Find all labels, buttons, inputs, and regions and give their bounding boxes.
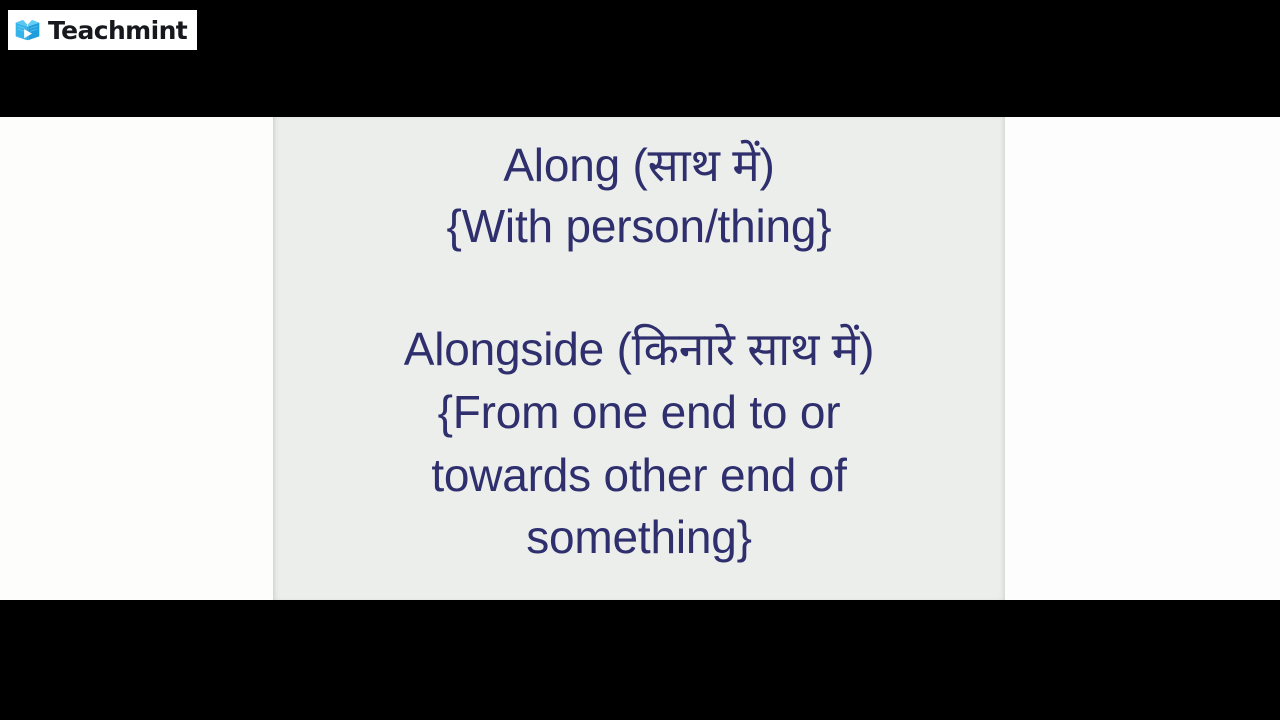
teachmint-wordmark: Teachmint bbox=[48, 18, 187, 43]
page-left-margin bbox=[0, 117, 273, 600]
entry-spacer bbox=[273, 256, 1005, 318]
teachmint-watermark-badge[interactable]: Teachmint bbox=[8, 10, 197, 50]
entry-headword-along: Along (साथ में) bbox=[273, 135, 1005, 196]
vocabulary-entry-along: Along (साथ में) {With person/thing} bbox=[273, 135, 1005, 256]
slide-text-block: Along (साथ में) {With person/thing} Alon… bbox=[273, 135, 1005, 569]
video-player-screen: Along (साथ में) {With person/thing} Alon… bbox=[0, 0, 1280, 720]
letterbox-bottom-band bbox=[0, 600, 1280, 720]
vocabulary-entry-alongside: Alongside (किनारे साथ में) {From one end… bbox=[273, 318, 1005, 568]
page-right-margin bbox=[1005, 117, 1280, 600]
entry-definition-alongside-line-3: something} bbox=[273, 506, 1005, 569]
entry-definition-alongside-line-1: {From one end to or bbox=[273, 381, 1005, 444]
video-frame[interactable]: Along (साथ में) {With person/thing} Alon… bbox=[0, 117, 1280, 600]
entry-headword-alongside: Alongside (किनारे साथ में) bbox=[273, 318, 1005, 381]
entry-definition-alongside-line-2: towards other end of bbox=[273, 444, 1005, 507]
lesson-slide-panel: Along (साथ में) {With person/thing} Alon… bbox=[273, 117, 1005, 600]
teachmint-book-play-logo-icon bbox=[14, 17, 41, 44]
entry-definition-along: {With person/thing} bbox=[273, 196, 1005, 257]
